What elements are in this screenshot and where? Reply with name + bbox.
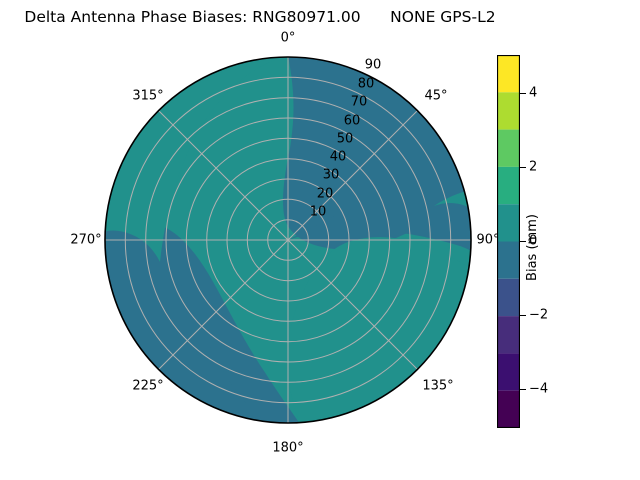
colorbar-tickmark-2 [520,167,526,168]
page-title: Delta Antenna Phase Biases: RNG80971.00 … [0,8,520,26]
colorbar-ticklabel-2: 2 [529,160,537,175]
radial-tick-50: 50 [337,132,354,147]
radial-tick-20: 20 [317,187,334,202]
radial-tick-10: 10 [310,205,327,220]
polar-plot-svg [104,56,472,424]
polar-chart-figure: Delta Antenna Phase Biases: RNG80971.00 … [0,0,640,480]
colorbar [497,55,520,428]
colorbar-ticklabel-n2: −2 [529,308,548,323]
angular-tick-135: 135° [422,379,453,394]
colorbar-svg [497,55,520,428]
colorbar-tickmark-n4 [520,389,526,390]
colorbar-ticklabel-n4: −4 [529,382,548,397]
radial-tick-70: 70 [351,95,368,110]
polar-axes [104,56,472,424]
angular-tick-180: 180° [272,441,303,456]
colorbar-ticklabel-4: 4 [529,86,537,101]
radial-tick-40: 40 [330,150,347,165]
angular-tick-315: 315° [132,89,163,104]
colorbar-axis-label: Bias (mm) [525,214,540,281]
angular-tick-225: 225° [132,379,163,394]
radial-tick-30: 30 [323,168,340,183]
radial-tick-60: 60 [344,114,361,129]
angular-gridlines [105,57,471,423]
colorbar-swatches [497,55,520,428]
angular-tick-270: 270° [70,233,101,248]
angular-tick-45: 45° [424,89,447,104]
radial-tick-80: 80 [358,77,375,92]
colorbar-tickmark-n2 [520,315,526,316]
radial-tick-90: 90 [365,58,382,73]
angular-tick-0: 0° [281,31,296,46]
colorbar-tickmark-4 [520,93,526,94]
